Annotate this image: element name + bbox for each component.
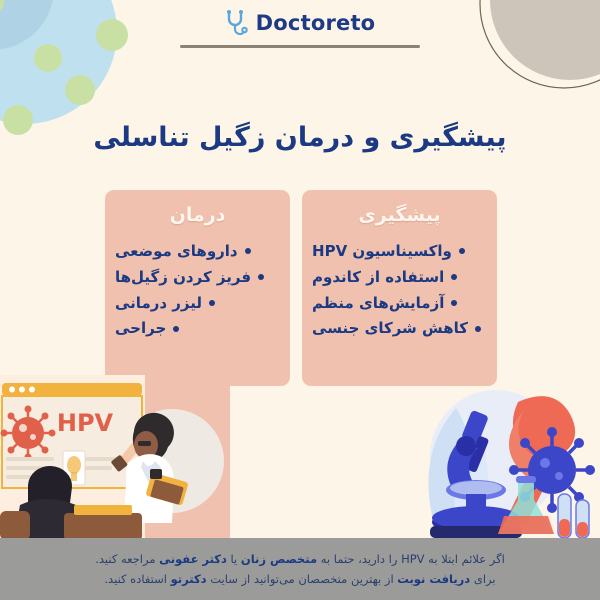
list-item-label: جراحی: [115, 319, 166, 338]
bullet-dot-icon: [173, 326, 179, 332]
card-prevention: پیشگیری واکسیناسیون HPV استفاده از کاندو…: [302, 190, 497, 386]
card-prevention-list: واکسیناسیون HPV استفاده از کاندوم آزمایش…: [312, 242, 487, 338]
list-item: آزمایش‌های منظم: [312, 294, 457, 313]
brand-logo: Doctoreto: [0, 6, 600, 40]
page-title: پیشگیری و درمان زگیل تناسلی: [0, 120, 600, 155]
list-item-label: کاهش شرکای جنسی: [312, 319, 468, 338]
list-item-label: فریز کردن زگیل‌ها: [115, 268, 251, 287]
header-divider: [180, 45, 420, 48]
microscope-ribbon-lab-illustration: [400, 374, 600, 544]
list-item: واکسیناسیون HPV: [312, 242, 465, 261]
footer-l1-part1: اگر علائم ابتلا به HPV را دارید، حتما به: [317, 552, 505, 566]
footer-l2-part1: برای: [470, 572, 495, 586]
list-item-label: استفاده از کاندوم: [312, 268, 444, 287]
card-treatment-title: درمان: [170, 204, 226, 226]
doctor-presentation-illustration: HPV: [0, 365, 230, 540]
footer-l1-highlight-1: متخصص زنان: [241, 552, 317, 566]
footer-l2-highlight-2: دکترتو: [171, 572, 207, 586]
bullet-dot-icon: [209, 300, 215, 306]
stethoscope-icon: [225, 10, 249, 36]
card-treatment: درمان داروهای موضعی فریز کردن زگیل‌ها لی…: [105, 190, 290, 386]
footer-l2-highlight-1: دریافت نوبت: [397, 572, 470, 586]
list-item-label: آزمایش‌های منظم: [312, 294, 444, 313]
list-item-label: داروهای موضعی: [115, 242, 238, 261]
footer-bar: اگر علائم ابتلا به HPV را دارید، حتما به…: [0, 538, 600, 600]
info-cards: پیشگیری واکسیناسیون HPV استفاده از کاندو…: [105, 190, 497, 386]
footer-line-2: برای دریافت نوبت از بهترین متخصصان می‌تو…: [86, 571, 513, 588]
footer-l1-highlight-2: دکتر عفونی: [159, 552, 227, 566]
footer-line-1: اگر علائم ابتلا به HPV را دارید، حتما به…: [77, 551, 523, 568]
footer-l1-part2: یا: [227, 552, 241, 566]
board-label: HPV: [57, 409, 114, 437]
brand-name: Doctoreto: [256, 11, 376, 35]
footer-l2-part2: از بهترین متخصصان می‌توانید از سایت: [207, 572, 398, 586]
list-item: استفاده از کاندوم: [312, 268, 457, 287]
list-item: کاهش شرکای جنسی: [312, 319, 481, 338]
list-item: جراحی: [115, 319, 179, 338]
list-item: داروهای موضعی: [115, 242, 251, 261]
list-item: لیزر درمانی: [115, 294, 215, 313]
bullet-dot-icon: [245, 248, 251, 254]
bullet-dot-icon: [475, 326, 481, 332]
bullet-dot-icon: [451, 274, 457, 280]
list-item: فریز کردن زگیل‌ها: [115, 268, 264, 287]
card-treatment-list: داروهای موضعی فریز کردن زگیل‌ها لیزر درم…: [115, 242, 280, 338]
card-prevention-title: پیشگیری: [358, 204, 440, 226]
bullet-dot-icon: [459, 248, 465, 254]
list-item-label: واکسیناسیون HPV: [312, 242, 452, 261]
footer-l2-part3: استفاده کنید.: [104, 572, 170, 586]
footer-l1-part3: مراجعه کنید.: [95, 552, 159, 566]
list-item-label: لیزر درمانی: [115, 294, 202, 313]
bullet-dot-icon: [258, 274, 264, 280]
infographic-poster: Doctoreto پیشگیری و درمان زگیل تناسلی پی…: [0, 0, 600, 600]
bullet-dot-icon: [451, 300, 457, 306]
